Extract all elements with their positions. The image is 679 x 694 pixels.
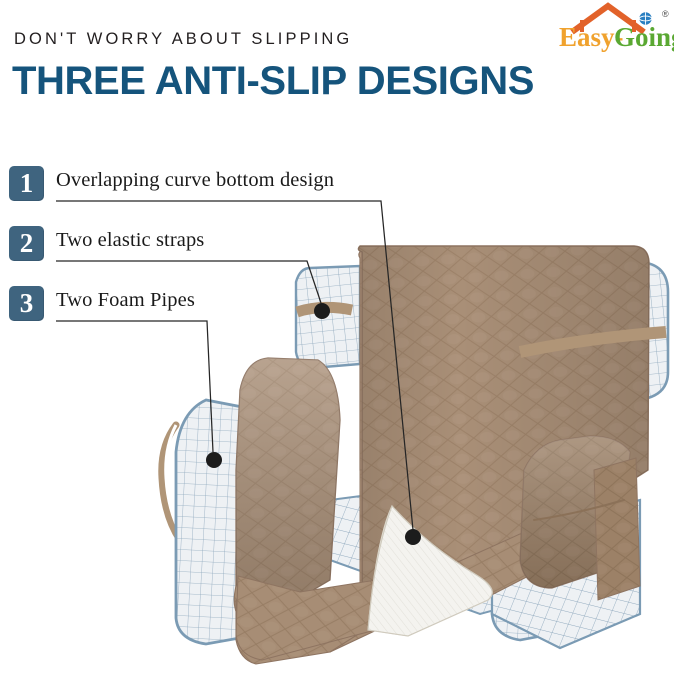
slipcover-arm-left-shading	[236, 358, 340, 610]
callout-2-badge: 2	[9, 226, 44, 261]
callout-2-label: Two elastic straps	[56, 229, 204, 252]
slipcover-arm-right-flap	[594, 458, 640, 600]
callout-1-badge: 1	[9, 166, 44, 201]
callout-3-badge: 3	[9, 286, 44, 321]
chair-backrest-left-panel	[296, 266, 360, 368]
callout-1-label: Overlapping curve bottom design	[56, 169, 334, 192]
product-illustration	[0, 0, 679, 694]
callout-3-label: Two Foam Pipes	[56, 289, 195, 312]
elastic-strap-left	[297, 307, 352, 312]
